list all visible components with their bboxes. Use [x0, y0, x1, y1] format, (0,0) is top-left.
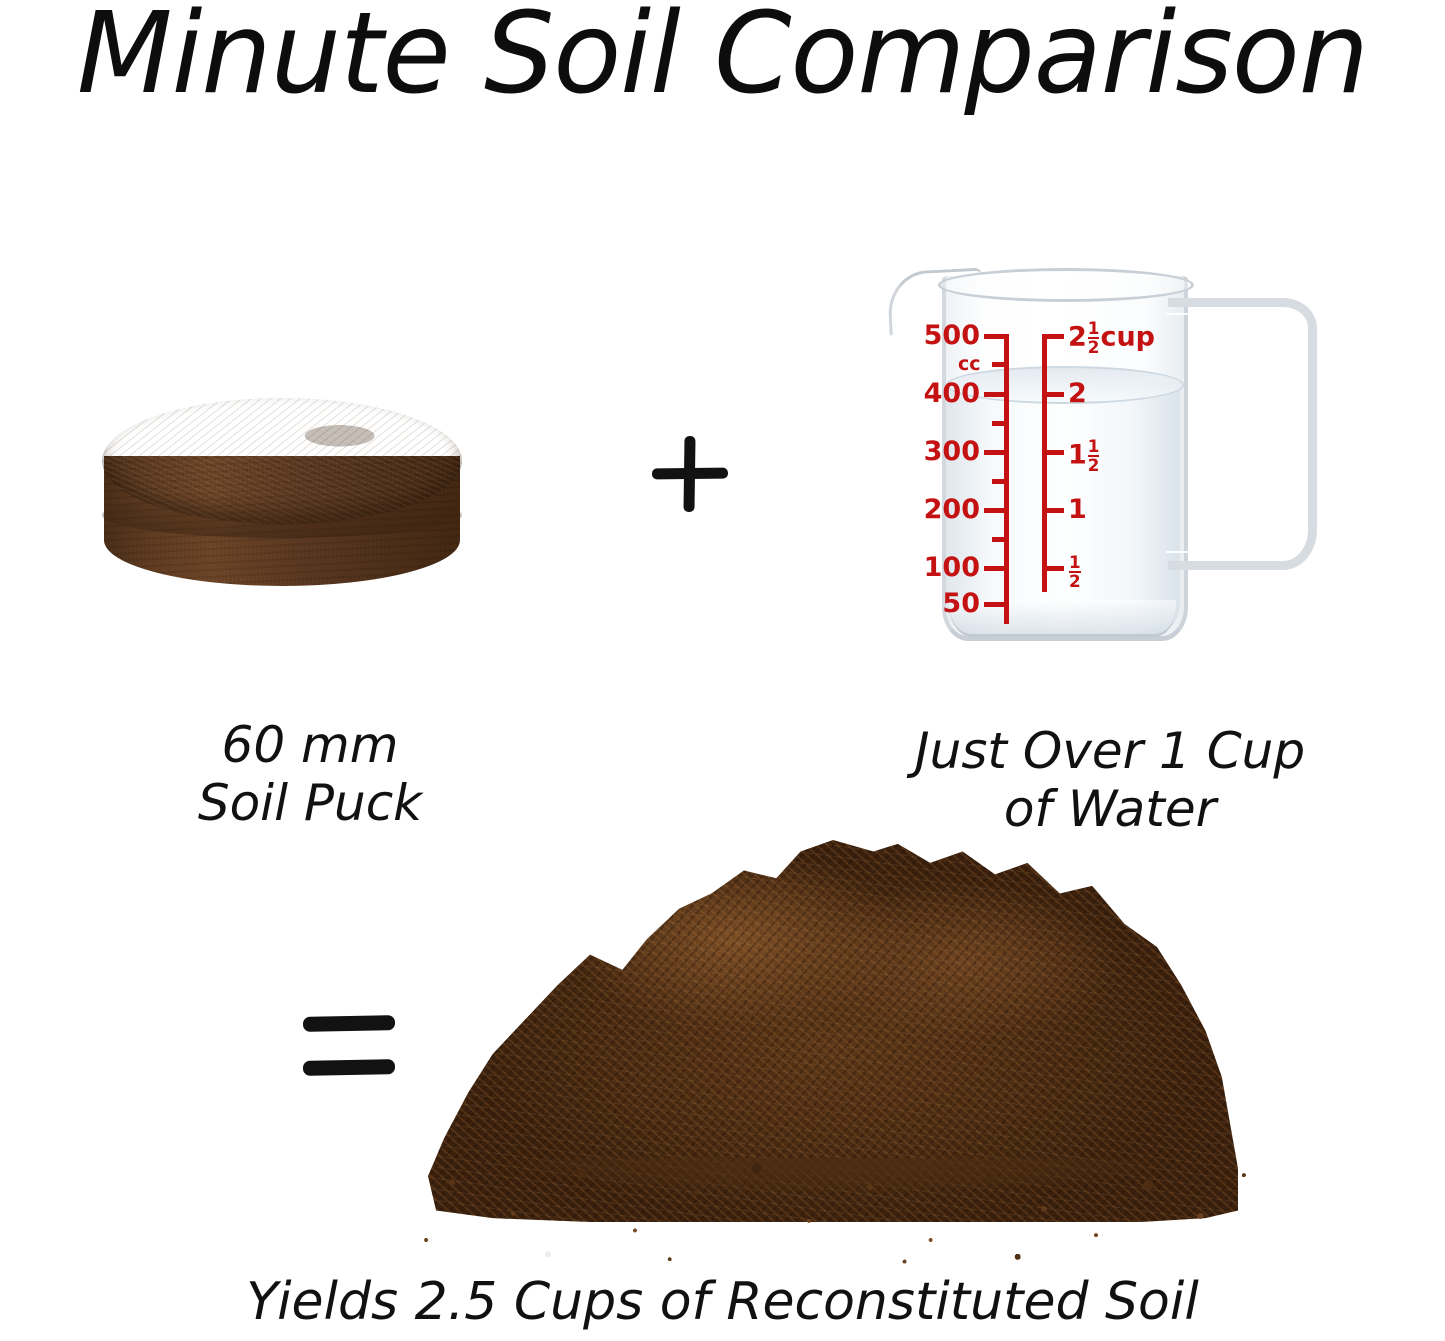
equals-bar-bottom [303, 1059, 395, 1076]
cup-label-half: 12 [1068, 554, 1082, 589]
infographic-canvas: Minute Soil Comparison [0, 0, 1445, 1341]
cup-tick-1 [1042, 508, 1064, 513]
cup-label-2-and-half: 212cup [1068, 320, 1155, 355]
fraction-half-2: 12 [1088, 438, 1100, 473]
cup-tick-half [1042, 566, 1064, 571]
cc-label-300: 300 [906, 438, 980, 465]
soil-puck-image [98, 396, 468, 612]
cup-water-surface [946, 366, 1184, 404]
fraction-half: 12 [1088, 320, 1100, 355]
puck-rim-shadow [102, 492, 462, 538]
reconstituted-soil-pile-image [400, 826, 1270, 1276]
water-caption: Just Over 1 Cup of Water [820, 722, 1400, 838]
cup-tick-2-half [1042, 334, 1064, 339]
fraction-half-3: 12 [1069, 554, 1081, 589]
cc-label-200: 200 [906, 496, 980, 523]
cc-tick-500 [984, 334, 1006, 339]
cup-scale-rail [1042, 334, 1047, 592]
cup-label-whole-1: 1 [1068, 440, 1087, 471]
cc-tick-350 [992, 421, 1006, 426]
equals-bar-top [303, 1015, 395, 1032]
cc-tick-150 [992, 537, 1006, 542]
cc-tick-50 [984, 602, 1006, 607]
cc-tick-250 [992, 479, 1006, 484]
plus-operator-icon [648, 432, 732, 516]
cup-unit-word: cup [1100, 322, 1155, 353]
cup-tick-1-half [1042, 450, 1064, 455]
cc-label-100: 100 [906, 554, 980, 581]
equals-operator-icon [303, 1012, 399, 1084]
cc-tick-450 [992, 362, 1006, 367]
page-title: Minute Soil Comparison [7, 0, 1438, 115]
cup-label-1-and-half: 112 [1068, 438, 1100, 473]
cup-tick-2 [1042, 392, 1064, 397]
cc-tick-100 [984, 566, 1006, 571]
measuring-cup-image: 500 cc 400 300 200 100 50 212cup 2 112 1… [880, 262, 1330, 652]
soil-puck-caption: 60 mm Soil Puck [60, 716, 560, 832]
cc-label-500: 500 [906, 322, 980, 349]
cup-label-2: 2 [1068, 380, 1087, 407]
soil-scatter-crumbs [400, 1156, 1270, 1276]
cc-tick-400 [984, 392, 1006, 397]
cc-label-400: 400 [906, 380, 980, 407]
cc-tick-300 [984, 450, 1006, 455]
cup-handle [1168, 298, 1317, 570]
cc-unit-label: cc [958, 355, 981, 374]
cup-label-1: 1 [1068, 496, 1087, 523]
yield-caption: Yields 2.5 Cups of Reconstituted Soil [0, 1272, 1445, 1332]
cc-label-50: 50 [906, 590, 980, 617]
plus-vertical-bar [683, 436, 695, 512]
cc-tick-200 [984, 508, 1006, 513]
cup-label-whole: 2 [1068, 322, 1087, 353]
cup-rim [938, 268, 1194, 302]
